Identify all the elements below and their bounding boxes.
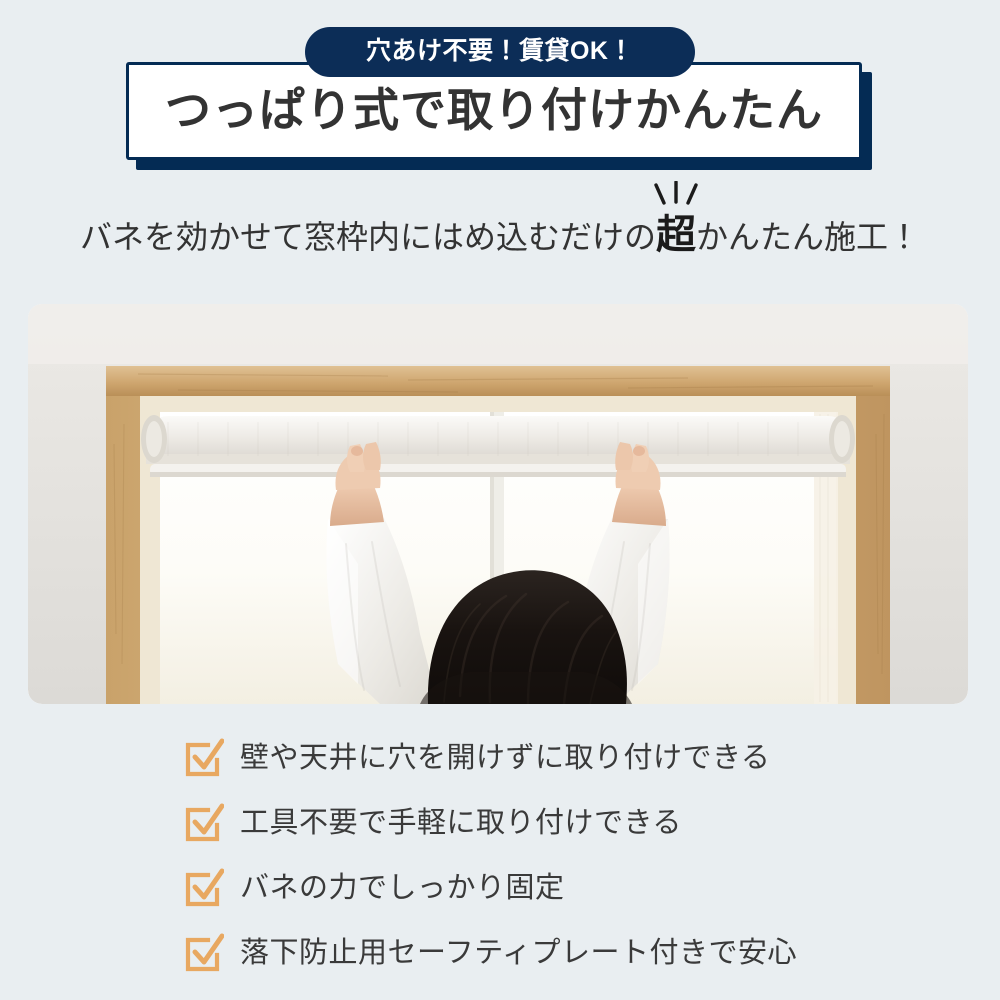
checkbox-checked-icon: [184, 803, 224, 843]
header-banner: つっぱり式で取り付けかんたん 穴あけ不要！賃貸OK！: [0, 0, 1000, 180]
header-badge: 穴あけ不要！賃貸OK！: [305, 27, 695, 77]
sparkle-marks-icon: [646, 181, 706, 211]
list-item-label: 工具不要で手軽に取り付けできる: [240, 809, 682, 838]
list-item: 壁や天井に穴を開けずに取り付けできる: [0, 726, 1000, 791]
subtitle-line: バネを効かせて窓枠内にはめ込むだけの 超 かんたん施工！: [80, 215, 920, 255]
subtitle-section: バネを効かせて窓枠内にはめ込むだけの 超 かんたん施工！: [0, 180, 1000, 290]
list-item: 工具不要で手軽に取り付けできる: [0, 791, 1000, 856]
page-title: つっぱり式で取り付けかんたん: [165, 87, 823, 133]
subtitle-emphasis-char: 超: [656, 213, 696, 257]
list-item: バネの力でしっかり固定: [0, 856, 1000, 921]
checkbox-checked-icon: [184, 933, 224, 973]
header-badge-label: 穴あけ不要！賃貸OK！: [366, 39, 634, 64]
subtitle-text-before: バネを効かせて窓枠内にはめ込むだけの: [80, 221, 656, 253]
subtitle-text-after: かんたん施工！: [696, 221, 920, 253]
subtitle-emphasis-wrap: 超: [656, 215, 696, 255]
product-photo-illustration: [28, 304, 968, 704]
list-item: 落下防止用セーフティプレート付きで安心: [0, 921, 1000, 986]
list-item-label: バネの力でしっかり固定: [240, 874, 565, 903]
list-item-label: 壁や天井に穴を開けずに取り付けできる: [240, 744, 770, 773]
list-item-label: 落下防止用セーフティプレート付きで安心: [240, 939, 797, 968]
checkbox-checked-icon: [184, 738, 224, 778]
feature-checklist: 壁や天井に穴を開けずに取り付けできる 工具不要で手軽に取り付けできる バネの力で…: [0, 712, 1000, 1000]
checkbox-checked-icon: [184, 868, 224, 908]
product-photo: [28, 304, 968, 704]
